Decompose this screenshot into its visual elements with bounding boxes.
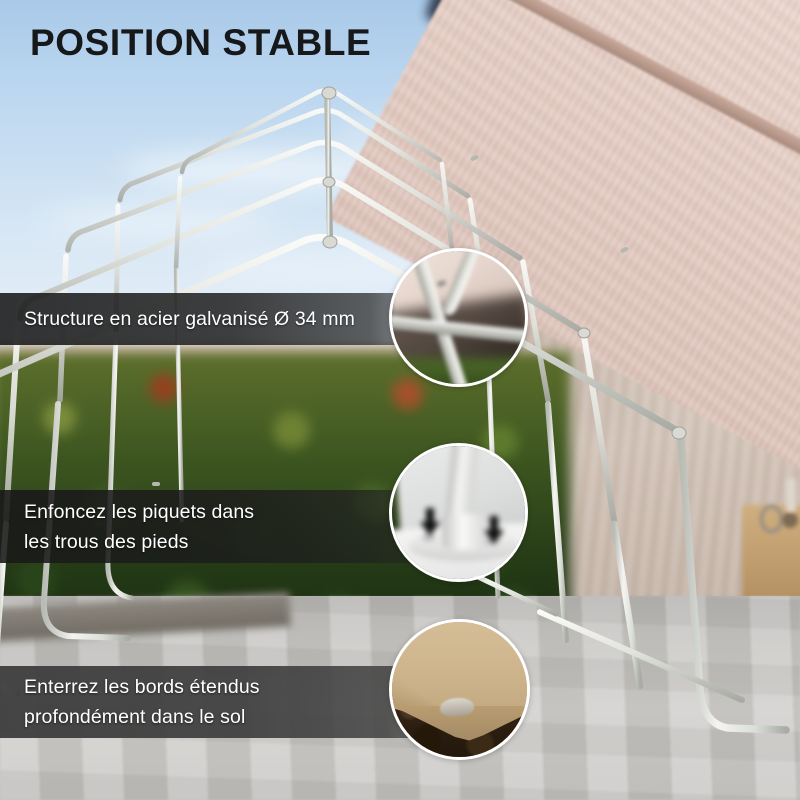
caption-line: les trous des pieds xyxy=(24,527,420,557)
inset-photo xyxy=(392,446,525,579)
inset-photo xyxy=(392,251,525,384)
inset-buried-edge xyxy=(389,619,530,760)
caption-buried-edges: Enterrez les bords étendus profondément … xyxy=(0,666,420,738)
caption-stakes: Enfoncez les piquets dans les trous des … xyxy=(0,490,420,563)
caption-line: Enfoncez les piquets dans xyxy=(24,497,420,527)
leg-collar xyxy=(442,514,486,550)
screw-icon xyxy=(436,280,446,288)
caption-line: profondément dans le sol xyxy=(24,702,420,732)
caption-steel-structure: Structure en acier galvanisé Ø 34 mm xyxy=(0,293,420,345)
product-feature-image: POSITION STABLE Structure en acier galva… xyxy=(0,0,800,800)
page-title: POSITION STABLE xyxy=(30,22,371,64)
caption-line: Structure en acier galvanisé Ø 34 mm xyxy=(24,304,420,334)
tarp-edge xyxy=(392,622,527,706)
inset-foot-plate xyxy=(389,443,528,582)
inset-tube-joint xyxy=(389,248,528,387)
inset-photo xyxy=(392,622,527,757)
caption-line: Enterrez les bords étendus xyxy=(24,672,420,702)
